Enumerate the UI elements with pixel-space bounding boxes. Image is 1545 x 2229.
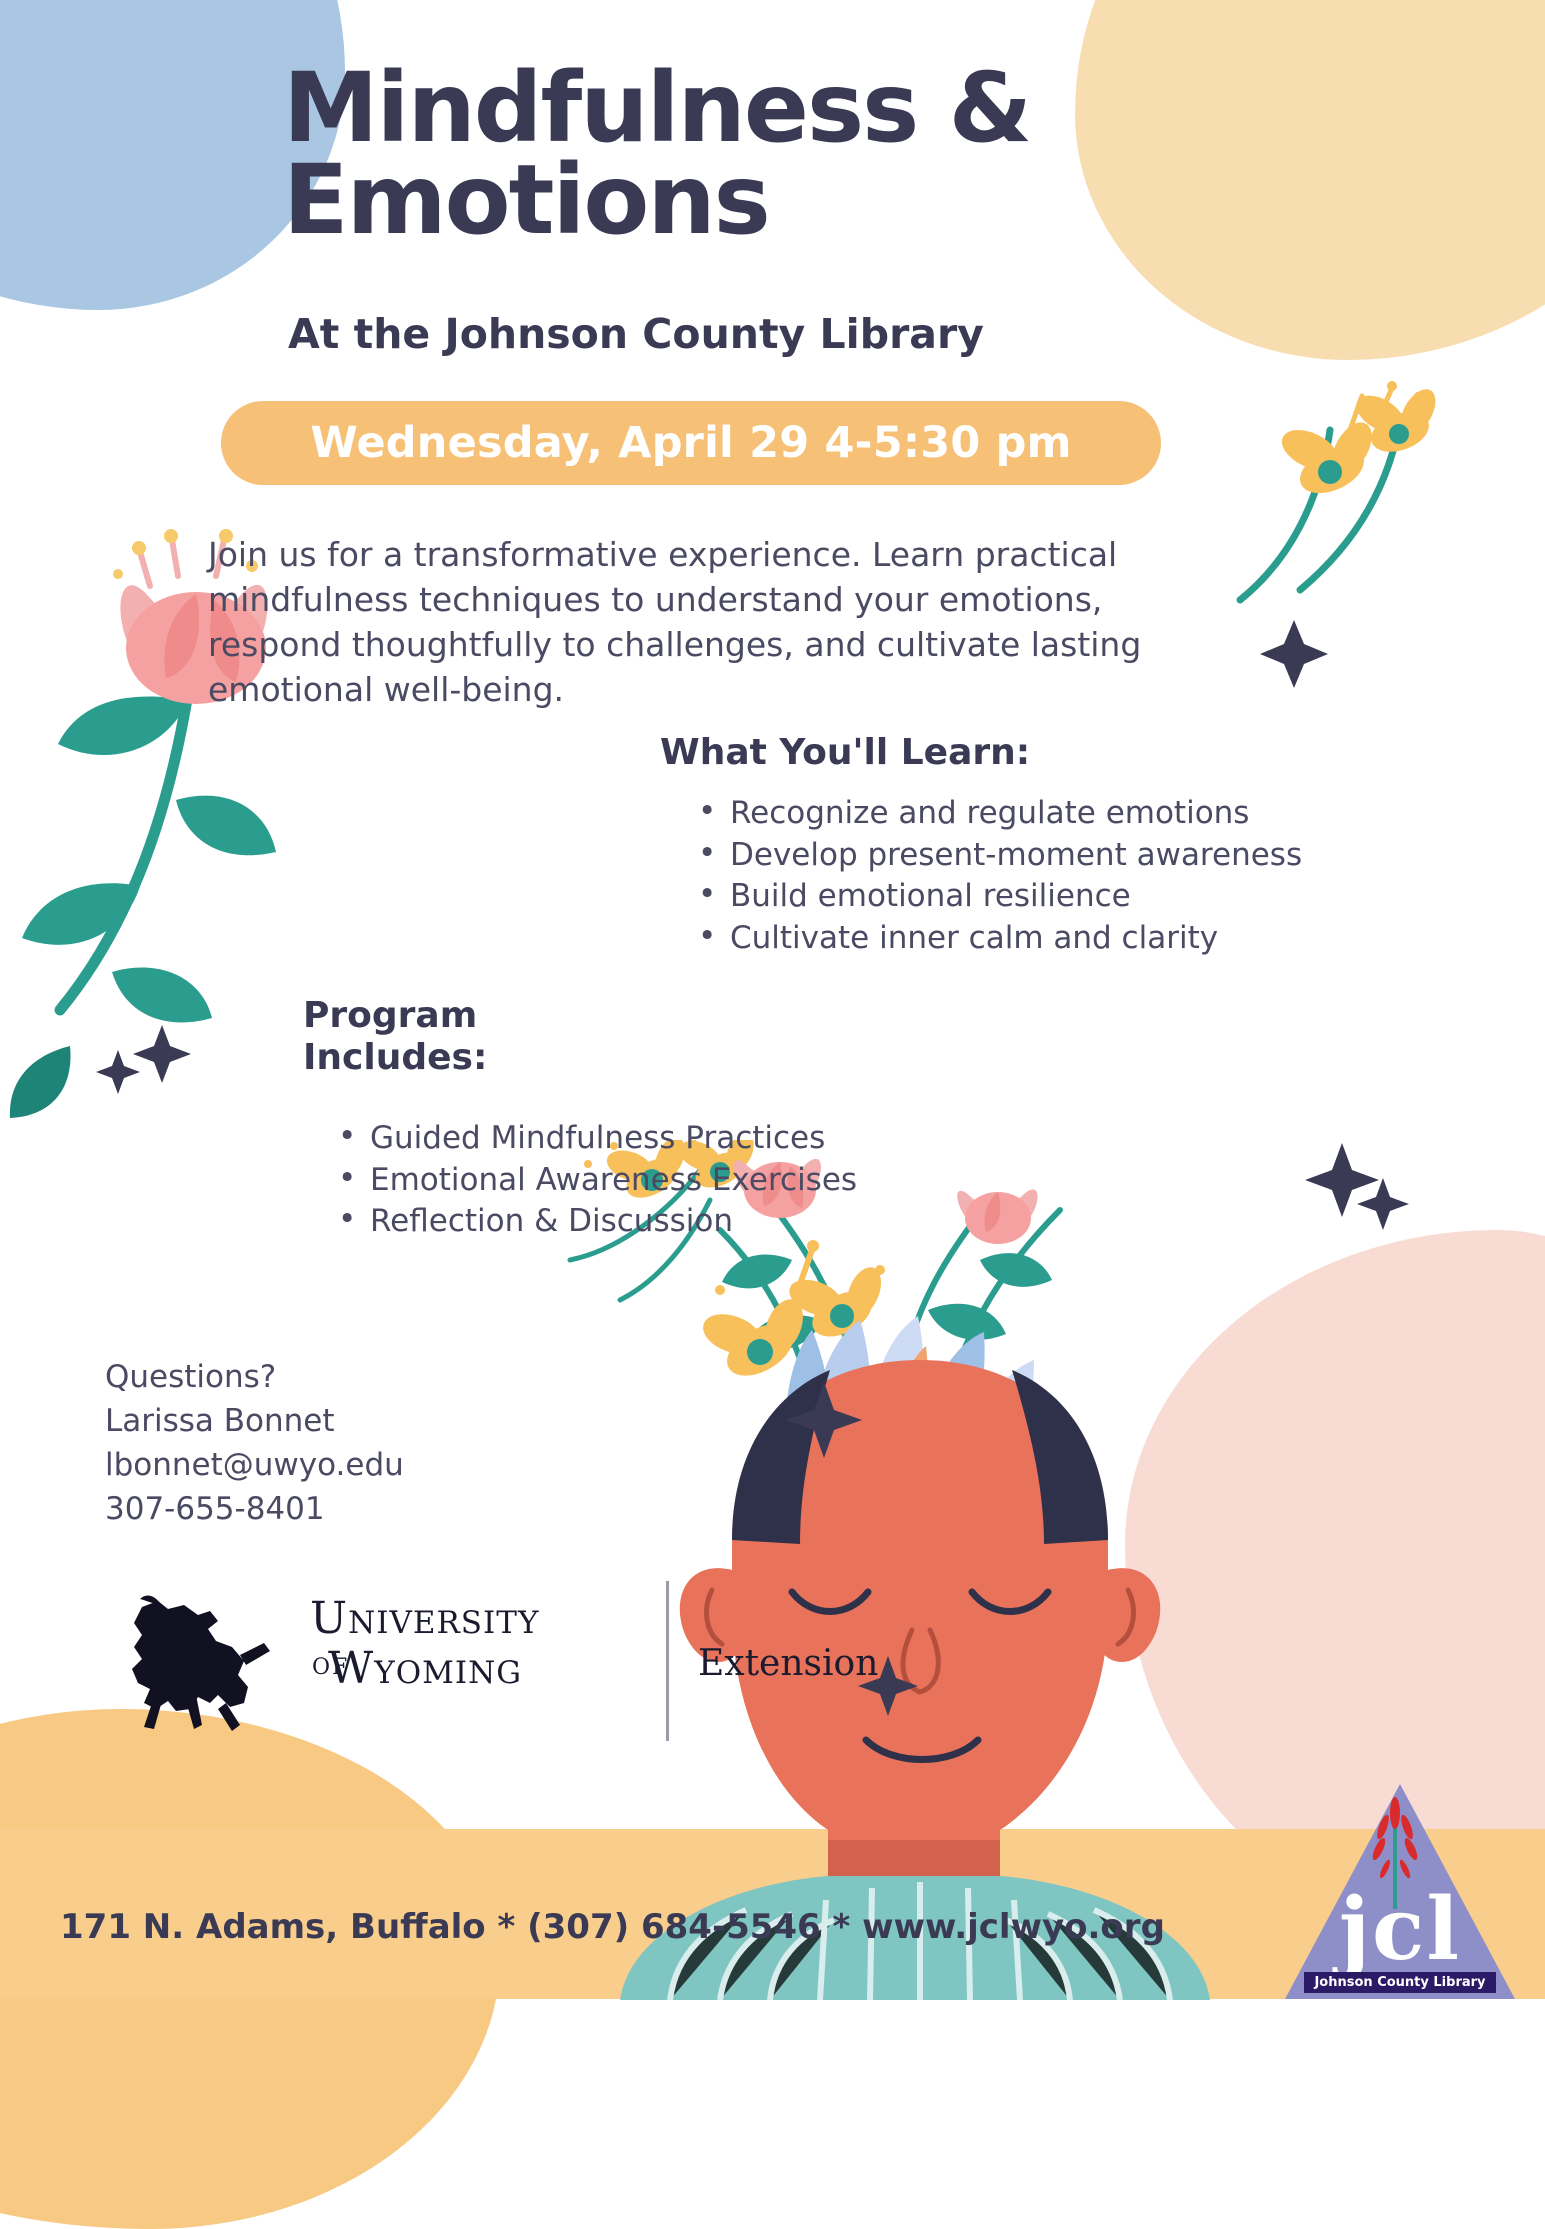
uw-wordmark: University OF Wyoming — [310, 1597, 650, 1691]
list-item: Cultivate inner calm and clarity — [690, 918, 1450, 960]
learn-list: Recognize and regulate emotions Develop … — [690, 793, 1450, 959]
footer-contact-text: 171 N. Adams, Buffalo * (307) 684-5546 *… — [60, 1907, 1165, 1947]
list-item: Recognize and regulate emotions — [690, 793, 1450, 835]
date-time-banner: Wednesday, April 29 4-5:30 pm — [221, 401, 1161, 485]
red-flower-icon — [1355, 1791, 1435, 1911]
list-item: Reflection & Discussion — [330, 1201, 970, 1243]
contact-phone[interactable]: 307-655-8401 — [105, 1487, 525, 1531]
jcl-logo: jcl Johnson County Library — [1285, 1769, 1515, 1999]
contact-email[interactable]: lbonnet@uwyo.edu — [105, 1443, 525, 1487]
list-item: Emotional Awareness Exercises — [330, 1160, 970, 1202]
page-title: Mindfulness & Emotions — [283, 62, 1243, 246]
uw-extension-logo: University OF Wyoming Extension — [98, 1595, 788, 1745]
bucking-horse-icon — [98, 1591, 278, 1741]
contact-name: Larissa Bonnet — [105, 1399, 525, 1443]
list-item: Build emotional resilience — [690, 876, 1450, 918]
program-list: Guided Mindfulness Practices Emotional A… — [330, 1118, 970, 1243]
meditating-head-illustration — [560, 1140, 1280, 2000]
intro-paragraph: Join us for a transformative experience.… — [208, 533, 1218, 713]
contact-block: Questions? Larissa Bonnet lbonnet@uwyo.e… — [105, 1355, 525, 1531]
uw-university-text: University — [310, 1597, 650, 1641]
list-item: Guided Mindfulness Practices — [330, 1118, 970, 1160]
page-subtitle: At the Johnson County Library — [288, 310, 1188, 358]
jcl-caption: Johnson County Library — [1304, 1972, 1495, 1993]
logo-divider — [666, 1581, 669, 1741]
uw-wyoming-text: Wyoming — [310, 1647, 650, 1691]
uw-extension-text: Extension — [698, 1643, 878, 1684]
uw-of-text: OF — [312, 1655, 349, 1680]
learn-heading: What You'll Learn: — [660, 732, 1030, 773]
program-heading: Program Includes: — [303, 995, 633, 1080]
date-time-text: Wednesday, April 29 4-5:30 pm — [310, 418, 1071, 468]
list-item: Develop present-moment awareness — [690, 835, 1450, 877]
orange-blob-shape — [0, 1709, 500, 2229]
contact-questions: Questions? — [105, 1355, 525, 1399]
